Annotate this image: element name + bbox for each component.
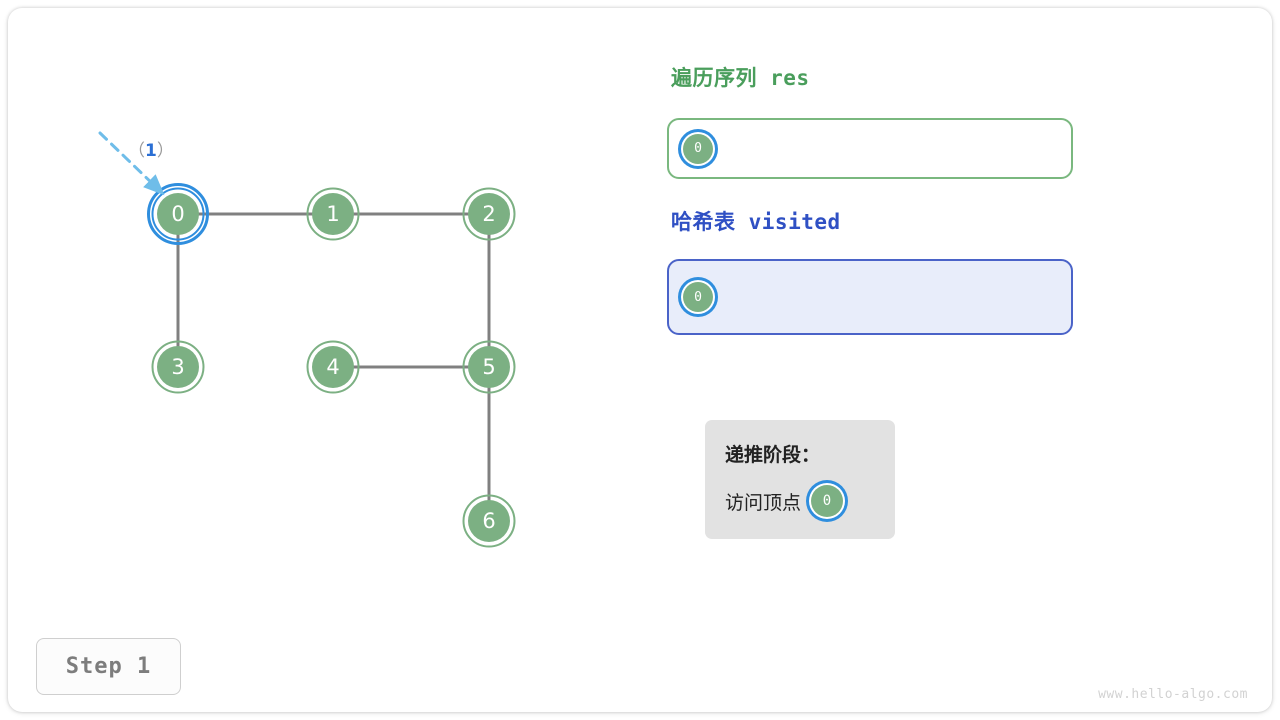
graph-diagram: 0123456 — [0, 0, 660, 620]
phase-heading: 递推阶段： — [725, 440, 871, 467]
res-panel-title: 遍历序列 res — [671, 62, 810, 92]
phase-body-text: 访问顶点 — [725, 488, 801, 515]
phase-body-node: 0 — [811, 485, 843, 517]
node-label: 1 — [326, 202, 339, 226]
res-list-box: 0 — [667, 118, 1073, 179]
graph-node-5[interactable]: 5 — [464, 342, 515, 393]
site-watermark: www.hello-algo.com — [1098, 687, 1248, 702]
visited-item: 0 — [683, 282, 713, 312]
visited-list-box: 0 — [667, 259, 1073, 335]
graph-node-2[interactable]: 2 — [464, 189, 515, 240]
graph-node-0[interactable]: 0 — [149, 185, 208, 244]
phase-body: 访问顶点 0 — [725, 485, 871, 517]
annotation-open-paren: （ — [128, 141, 145, 161]
graph-node-6[interactable]: 6 — [464, 496, 515, 547]
node-label: 5 — [482, 355, 495, 379]
phase-info-box: 递推阶段： 访问顶点 0 — [705, 420, 895, 539]
node-label: 2 — [482, 202, 495, 226]
annotation-close-paren: ） — [157, 141, 174, 161]
node-label: 0 — [171, 202, 184, 226]
node-label: 3 — [171, 355, 184, 379]
step-badge: Step 1 — [36, 638, 181, 695]
node-label: 4 — [326, 355, 339, 379]
annotation-number: 1 — [145, 141, 157, 161]
node-label: 6 — [482, 509, 495, 533]
illustration-canvas: 0123456 （1） 遍历序列 res 0 哈希表 visited 0 递推阶… — [0, 0, 1280, 720]
pointer-annotation-label: （1） — [128, 136, 174, 161]
graph-node-3[interactable]: 3 — [153, 342, 204, 393]
graph-node-1[interactable]: 1 — [308, 189, 359, 240]
res-item: 0 — [683, 134, 713, 164]
visited-panel-title: 哈希表 visited — [671, 206, 841, 236]
graph-node-4[interactable]: 4 — [308, 342, 359, 393]
